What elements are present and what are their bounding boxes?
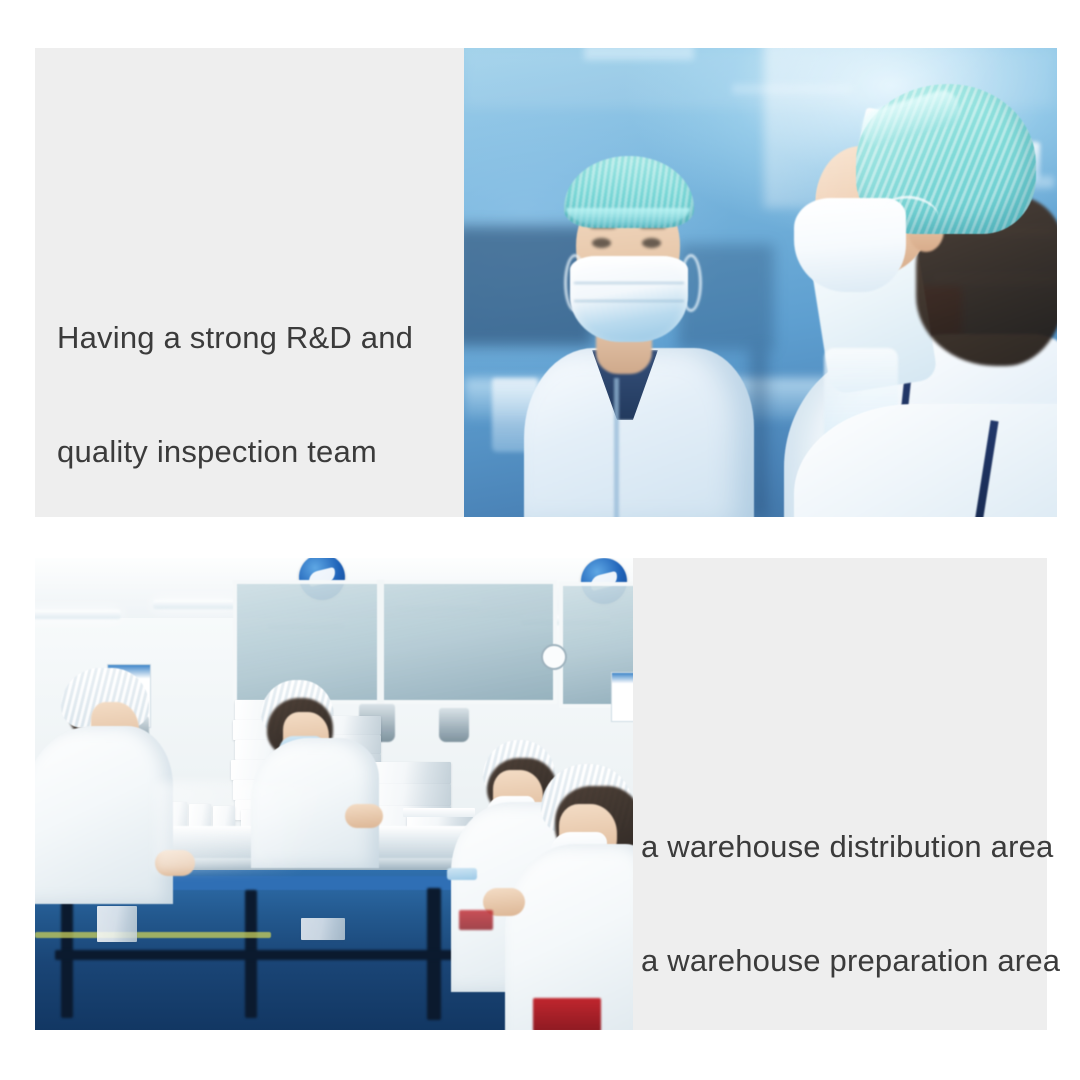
- worker-1-coat: [35, 726, 173, 904]
- rd-quality-caption: Having a strong R&D and quality inspecti…: [57, 243, 457, 509]
- technician-a-eye-left: [592, 238, 611, 248]
- warehouse-caption-line-1: a warehouse distribution area: [641, 828, 1047, 866]
- floor-marking-stripe: [35, 932, 271, 938]
- wall-clock: [541, 644, 567, 670]
- wall-notice-board-right: [611, 672, 633, 722]
- red-item-on-table: [459, 910, 493, 930]
- rd-quality-caption-line-1: Having a strong R&D and: [57, 319, 457, 357]
- flat-carton-lid: [403, 808, 475, 817]
- technician-a-face-mask: [570, 256, 688, 342]
- under-table-carton: [97, 906, 137, 942]
- ceiling-light-1: [35, 610, 121, 619]
- technician-a-eye-right: [642, 238, 661, 248]
- rd-quality-caption-line-2: quality inspection team: [57, 433, 457, 471]
- lab-shelf-rear: [732, 84, 852, 94]
- technician-c-face-mask: [794, 198, 906, 292]
- blue-tool-in-hand: [447, 868, 477, 880]
- lab-ceiling-light: [584, 48, 694, 60]
- warehouse-caption-line-2: a warehouse preparation area: [641, 942, 1047, 980]
- under-table-carton-2: [301, 918, 345, 940]
- technician-a-mask-pleat-1: [574, 282, 684, 284]
- warehouse-caption: a warehouse distribution area a warehous…: [641, 752, 1047, 1018]
- technician-a-mask-pleat-2: [574, 300, 684, 302]
- worker-4-red-garment: [533, 998, 601, 1030]
- worker-1-hand: [155, 850, 195, 876]
- worker-2-hand: [345, 804, 383, 828]
- warehouse-photo: [35, 558, 633, 1030]
- rd-quality-photo: [464, 48, 1057, 517]
- window-mullion-vertical: [377, 580, 384, 704]
- stainless-pot-3: [439, 708, 469, 742]
- table-cross-brace: [55, 950, 455, 960]
- ceiling-light-2: [153, 600, 237, 609]
- technician-a-coat-edge: [614, 378, 619, 517]
- worker-2-coat: [251, 738, 379, 868]
